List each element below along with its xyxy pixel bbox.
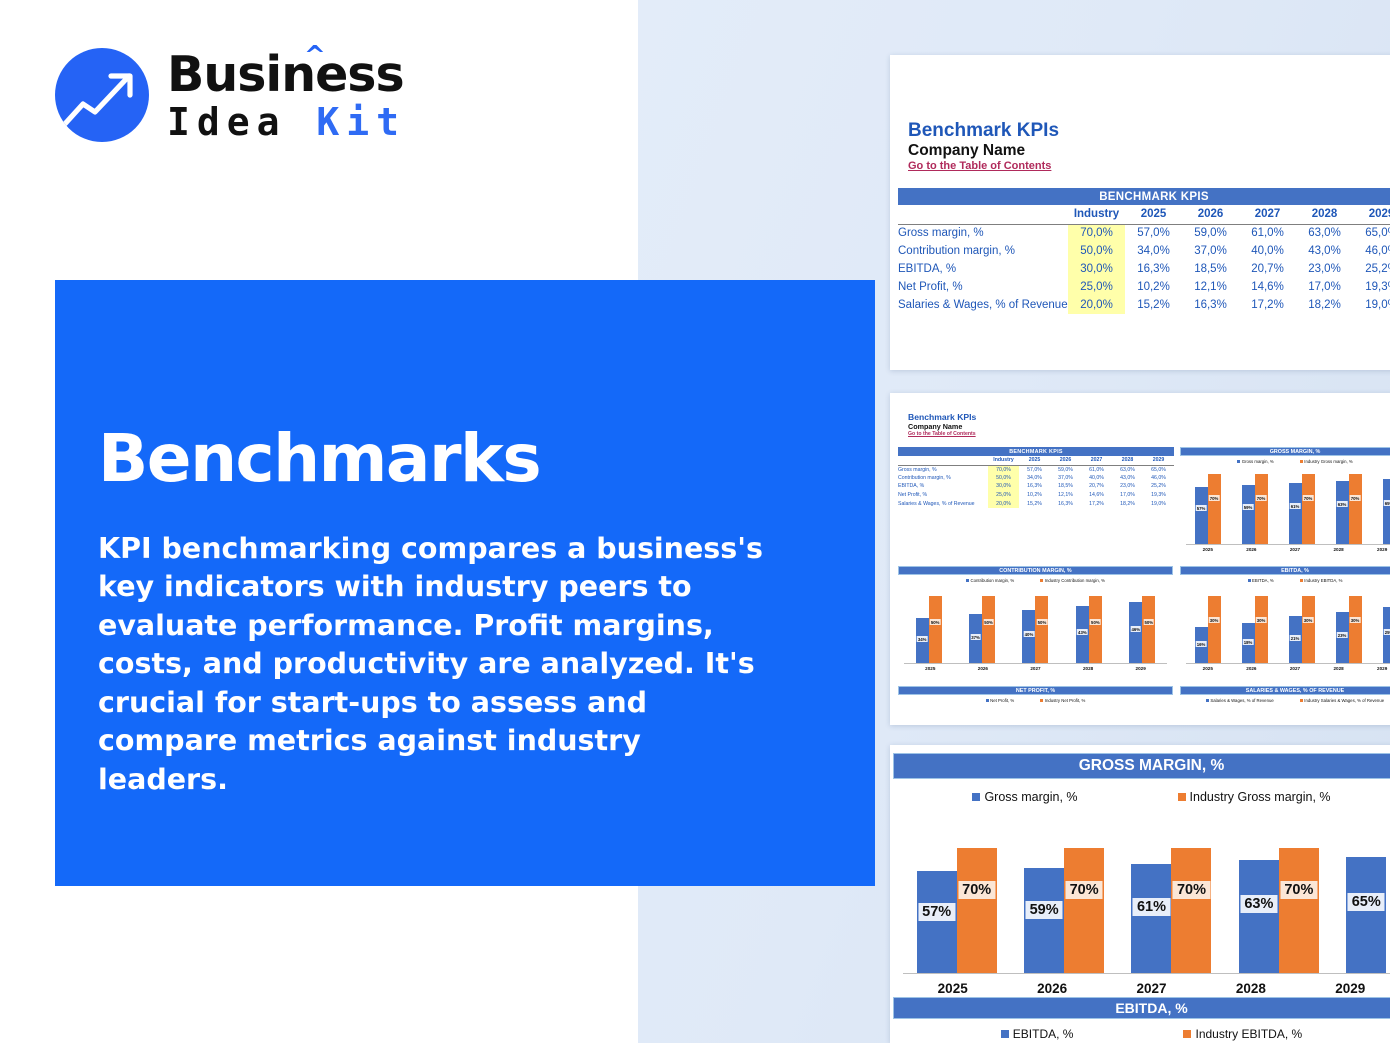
bar-data-label: 57% — [918, 903, 955, 921]
table-body-mini: BENCHMARK KPISIndustry202520262027202820… — [898, 447, 1174, 508]
table-row[interactable]: Gross margin, %70,0%57,0%59,0%61,0%63,0%… — [898, 465, 1174, 474]
bar-group: 65% — [1383, 464, 1390, 544]
chart-ebitda-large[interactable]: EBITDA, %EBITDA, %Industry EBITDA, % — [893, 997, 1390, 1041]
chart-plot-area: 16%30%18%30%21%30%23%30%25% — [1180, 583, 1390, 663]
bar-data-label: 61% — [1290, 503, 1301, 509]
table-row[interactable]: Contribution margin, %50,0%34,0%37,0%40,… — [898, 474, 1174, 483]
bar-data-label: 30% — [1303, 617, 1314, 623]
bar-data-label: 16% — [1196, 641, 1207, 647]
value-cell[interactable]: 20,7% — [1081, 482, 1112, 491]
industry-cell[interactable]: 25,0% — [988, 491, 1019, 500]
column-header: 2028 — [1112, 456, 1143, 465]
chart-title: GROSS MARGIN, % — [1180, 447, 1390, 456]
header-blank — [898, 456, 988, 465]
row-label: Contribution margin, % — [898, 474, 988, 483]
column-header: Industry — [988, 456, 1019, 465]
value-cell[interactable]: 57,0% — [1125, 224, 1182, 242]
legend-swatch-orange — [1183, 1030, 1191, 1038]
legend-label-company: Gross margin, % — [984, 790, 1077, 804]
sheet-header-top: Benchmark KPIs Company Name Go to the Ta… — [898, 120, 1059, 172]
bar-data-label: 30% — [1209, 617, 1220, 623]
chart-gross-margin-large[interactable]: GROSS MARGIN, %Gross margin, %Industry G… — [893, 753, 1390, 996]
x-axis-tick: 2028 — [1083, 666, 1093, 671]
value-cell[interactable]: 17,2% — [1081, 499, 1112, 508]
table-row[interactable]: EBITDA, %30,0%16,3%18,5%20,7%23,0%25,2% — [898, 482, 1174, 491]
bar-data-label: 59% — [1243, 504, 1254, 510]
x-axis-tick: 2026 — [1246, 666, 1256, 671]
growth-arrow-icon — [55, 48, 149, 142]
column-header: 2029 — [1353, 205, 1390, 224]
bar-data-label: 65% — [1348, 893, 1385, 911]
chart-title: SALARIES & WAGES, % OF REVENUE — [1180, 686, 1390, 695]
bar[interactable]: 50% — [1089, 596, 1102, 663]
legend-label-industry: Industry Net Profit, % — [1045, 698, 1086, 703]
bar[interactable]: 70% — [1302, 474, 1315, 544]
bar-group: 23%30% — [1336, 583, 1362, 663]
bar-group: 40%50% — [1022, 583, 1048, 663]
bar-data-label: 59% — [1026, 901, 1063, 919]
bar-data-label: 30% — [1350, 617, 1361, 623]
table-row[interactable]: Salaries & Wages, % of Revenue20,0%15,2%… — [898, 499, 1174, 508]
bar-data-label: 43% — [1077, 629, 1088, 635]
value-cell[interactable]: 46,0% — [1143, 474, 1174, 483]
legend-item-industry: Industry Salaries & Wages, % of Revenue — [1300, 698, 1384, 703]
value-cell[interactable]: 17,0% — [1296, 278, 1353, 296]
bar-group: 57%70% — [1195, 464, 1221, 544]
bar-group: 59%70% — [1242, 464, 1268, 544]
legend-item-company: EBITDA, % — [1001, 1027, 1074, 1041]
chart-legend: EBITDA, %Industry EBITDA, % — [893, 1027, 1390, 1041]
legend-label-company: Salaries & Wages, % of Revenue — [1210, 698, 1273, 703]
x-axis-tick: 2026 — [978, 666, 988, 671]
bar-group: 65% — [1346, 830, 1386, 973]
chart-title: GROSS MARGIN, % — [893, 753, 1390, 779]
legend-swatch-orange — [1040, 579, 1043, 582]
bar[interactable]: 50% — [1142, 596, 1155, 663]
value-cell[interactable]: 23,0% — [1112, 482, 1143, 491]
bar[interactable]: 70% — [1171, 848, 1211, 973]
legend-swatch-blue — [1248, 579, 1251, 582]
x-axis-tick: 2028 — [1333, 547, 1343, 552]
bar-data-label: 50% — [1090, 619, 1101, 625]
bar[interactable]: 70% — [1255, 474, 1268, 544]
bar-data-label: 25% — [1384, 629, 1390, 635]
bar[interactable]: 65% — [1346, 857, 1386, 973]
value-cell[interactable]: 19,3% — [1353, 278, 1390, 296]
chart-plot-area: 57%70%59%70%61%70%63%70%65% — [893, 830, 1390, 973]
industry-cell[interactable]: 20,0% — [1068, 296, 1125, 314]
legend-label-company: EBITDA, % — [1013, 1027, 1074, 1041]
column-header: 2026 — [1182, 205, 1239, 224]
bar[interactable]: 16% — [1195, 627, 1208, 663]
value-cell[interactable]: 40,0% — [1081, 474, 1112, 483]
column-header: 2025 — [1125, 205, 1182, 224]
industry-cell[interactable]: 50,0% — [988, 474, 1019, 483]
value-cell[interactable]: 61,0% — [1239, 224, 1296, 242]
bar[interactable]: 70% — [1349, 474, 1362, 544]
value-cell[interactable]: 65,0% — [1143, 465, 1174, 474]
row-label: Gross margin, % — [898, 465, 988, 474]
bar[interactable]: 46% — [1129, 602, 1142, 663]
row-label: EBITDA, % — [898, 260, 1068, 278]
table-row[interactable]: EBITDA, %30,0%16,3%18,5%20,7%23,0%25,2% — [898, 260, 1390, 278]
bar-group: 63%70% — [1336, 464, 1362, 544]
x-axis-tick: 2026 — [1246, 547, 1256, 552]
sheet-title: Benchmark KPIs — [908, 120, 1059, 142]
x-axis-tick: 2027 — [1030, 666, 1040, 671]
value-cell[interactable]: 16,3% — [1125, 260, 1182, 278]
column-header: 2028 — [1296, 205, 1353, 224]
value-cell[interactable]: 34,0% — [1019, 474, 1050, 483]
value-cell[interactable]: 25,2% — [1353, 260, 1390, 278]
legend-item-company: Net Profit, % — [986, 698, 1015, 703]
value-cell[interactable]: 12,1% — [1050, 491, 1081, 500]
brand-caret-icon: ^ — [304, 43, 325, 69]
legend-label-industry: Industry Gross margin, % — [1190, 790, 1331, 804]
x-axis-tick: 2025 — [925, 666, 935, 671]
sheet-company-mini: Company Name — [908, 422, 976, 431]
bar[interactable]: 61% — [1131, 864, 1171, 973]
brand-line-2-dark: Idea — [167, 100, 316, 144]
bar-group: 61%70% — [1289, 464, 1315, 544]
sheet-header-middle: Benchmark KPIs Company Name Go to the Ta… — [898, 412, 976, 437]
value-cell[interactable]: 37,0% — [1182, 242, 1239, 260]
bar-group: 63%70% — [1239, 830, 1319, 973]
value-cell[interactable]: 16,3% — [1182, 296, 1239, 314]
x-axis-ticks: 20252026202720282029 — [893, 974, 1390, 996]
bar-data-label: 63% — [1337, 501, 1348, 507]
x-axis-tick: 2027 — [1136, 981, 1166, 996]
chart-legend: Gross margin, %Industry Gross margin, % — [893, 790, 1390, 804]
bar-data-label: 63% — [1240, 895, 1277, 913]
page-title: Benchmarks — [98, 420, 540, 497]
bar[interactable]: 23% — [1336, 612, 1349, 663]
table-row[interactable]: Salaries & Wages, % of Revenue20,0%15,2%… — [898, 296, 1390, 314]
legend-swatch-orange — [1300, 579, 1303, 582]
legend-swatch-blue — [966, 579, 969, 582]
chart-plot-area: 34%50%37%50%40%50%43%50%46%50% — [898, 583, 1173, 663]
value-cell[interactable]: 19,0% — [1353, 296, 1390, 314]
bar-data-label: 70% — [1066, 881, 1103, 899]
value-cell[interactable]: 12,1% — [1182, 278, 1239, 296]
bar-data-label: 37% — [970, 634, 981, 640]
bar[interactable]: 57% — [1195, 487, 1208, 544]
legend-swatch-blue — [1237, 460, 1240, 463]
table-banner-row: BENCHMARK KPIS — [898, 447, 1174, 456]
value-cell[interactable]: 43,0% — [1112, 474, 1143, 483]
bar-group: 46%50% — [1129, 583, 1155, 663]
x-axis-tick: 2025 — [1203, 547, 1213, 552]
bar[interactable]: 30% — [1349, 596, 1362, 663]
value-cell[interactable]: 14,6% — [1239, 278, 1296, 296]
legend-item-industry: Industry Gross margin, % — [1178, 790, 1331, 804]
legend-swatch-orange — [1178, 793, 1186, 801]
bar-data-label: 50% — [1143, 619, 1154, 625]
legend-swatch-blue — [1206, 699, 1209, 702]
bar[interactable]: 63% — [1239, 860, 1279, 973]
toc-link[interactable]: Go to the Table of Contents — [908, 160, 1059, 172]
value-cell[interactable]: 46,0% — [1353, 242, 1390, 260]
benchmark-kpi-table-mini[interactable]: BENCHMARK KPISIndustry202520262027202820… — [898, 447, 1174, 508]
industry-cell[interactable]: 70,0% — [988, 465, 1019, 474]
bar-data-label: 70% — [1280, 881, 1317, 899]
value-cell[interactable]: 17,0% — [1112, 491, 1143, 500]
chart-net-profit-mini[interactable]: NET PROFIT, %Net Profit, %Industry Net P… — [898, 686, 1173, 703]
chart-title: NET PROFIT, % — [898, 686, 1173, 695]
header-blank — [898, 205, 1068, 224]
bar[interactable]: 70% — [957, 848, 997, 973]
column-header: Industry — [1068, 205, 1125, 224]
legend-swatch-blue — [972, 793, 980, 801]
bar-data-label: 23% — [1337, 632, 1348, 638]
bar[interactable]: 70% — [1208, 474, 1221, 544]
column-header: 2027 — [1239, 205, 1296, 224]
bar[interactable]: 70% — [1279, 848, 1319, 973]
table-row[interactable]: Contribution margin, %50,0%34,0%37,0%40,… — [898, 242, 1390, 260]
x-axis-tick: 2029 — [1335, 981, 1365, 996]
row-label: EBITDA, % — [898, 482, 988, 491]
row-label: Salaries & Wages, % of Revenue — [898, 499, 988, 508]
bar-data-label: 70% — [1256, 495, 1267, 501]
brand-line-1-text: Business — [167, 46, 404, 103]
legend-item-industry: Industry EBITDA, % — [1183, 1027, 1302, 1041]
chart-title: EBITDA, % — [1180, 566, 1390, 575]
value-cell[interactable]: 16,3% — [1050, 499, 1081, 508]
toc-link-mini[interactable]: Go to the Table of Contents — [908, 431, 976, 437]
bar[interactable]: 30% — [1208, 596, 1221, 663]
bar-group: 34%50% — [916, 583, 942, 663]
row-label: Salaries & Wages, % of Revenue — [898, 296, 1068, 314]
legend-item-company: Salaries & Wages, % of Revenue — [1206, 698, 1274, 703]
x-axis-tick: 2025 — [938, 981, 968, 996]
value-cell[interactable]: 63,0% — [1296, 224, 1353, 242]
bar-data-label: 70% — [1209, 495, 1220, 501]
value-cell[interactable]: 19,3% — [1143, 491, 1174, 500]
bar-group: 59%70% — [1024, 830, 1104, 973]
value-cell[interactable]: 63,0% — [1112, 465, 1143, 474]
bar[interactable]: 30% — [1255, 596, 1268, 663]
x-axis-tick: 2026 — [1037, 981, 1067, 996]
bar[interactable]: 40% — [1022, 610, 1035, 663]
value-cell[interactable]: 14,6% — [1081, 491, 1112, 500]
chart-gross-margin-mini[interactable]: GROSS MARGIN, %Gross margin, %Industry G… — [1180, 447, 1390, 552]
chart-title: EBITDA, % — [893, 997, 1390, 1019]
bar[interactable]: 70% — [1064, 848, 1104, 973]
x-axis-ticks: 20252026202720282029 — [898, 664, 1173, 671]
column-header: 2027 — [1081, 456, 1112, 465]
x-axis-tick: 2027 — [1290, 547, 1300, 552]
bar[interactable]: 37% — [969, 614, 982, 663]
x-axis-tick: 2028 — [1236, 981, 1266, 996]
bar-data-label: 70% — [1173, 881, 1210, 899]
value-cell[interactable]: 61,0% — [1081, 465, 1112, 474]
column-header: 2026 — [1050, 456, 1081, 465]
bar[interactable]: 50% — [929, 596, 942, 663]
legend-label-industry: Industry EBITDA, % — [1195, 1027, 1302, 1041]
chart-plot-area: 57%70%59%70%61%70%63%70%65% — [1180, 464, 1390, 544]
value-cell[interactable]: 17,2% — [1239, 296, 1296, 314]
x-axis-ticks: 20252026202720282029 — [1180, 545, 1390, 552]
chart-legend: Salaries & Wages, % of RevenueIndustry S… — [1180, 698, 1390, 703]
bar-group: 21%30% — [1289, 583, 1315, 663]
table-row[interactable]: Gross margin, %70,0%57,0%59,0%61,0%63,0%… — [898, 224, 1390, 242]
value-cell[interactable]: 37,0% — [1050, 474, 1081, 483]
bar-data-label: 50% — [930, 619, 941, 625]
bar-data-label: 18% — [1243, 639, 1254, 645]
bar-data-label: 50% — [1037, 619, 1048, 625]
table-header-row: Industry20252026202720282029 — [898, 456, 1174, 465]
brand-line-1: Business ^ — [167, 50, 406, 99]
value-cell[interactable]: 18,2% — [1112, 499, 1143, 508]
value-cell[interactable]: 20,7% — [1239, 260, 1296, 278]
bar-group: 16%30% — [1195, 583, 1221, 663]
legend-item-company: Gross margin, % — [972, 790, 1077, 804]
bar[interactable]: 18% — [1242, 623, 1255, 663]
bar-data-label: 46% — [1130, 626, 1141, 632]
legend-swatch-orange — [1040, 699, 1043, 702]
bar-data-label: 61% — [1133, 898, 1170, 916]
value-cell[interactable]: 10,2% — [1125, 278, 1182, 296]
x-axis-tick: 2028 — [1333, 666, 1343, 671]
bar[interactable]: 59% — [1024, 868, 1064, 973]
x-axis-tick: 2029 — [1377, 547, 1387, 552]
value-cell[interactable]: 59,0% — [1182, 224, 1239, 242]
industry-cell[interactable]: 50,0% — [1068, 242, 1125, 260]
hero-panel: Benchmarks KPI benchmarking compares a b… — [55, 280, 875, 886]
brand-line-2-accent: Kit — [316, 100, 406, 144]
bar[interactable]: 25% — [1383, 607, 1390, 663]
row-label: Contribution margin, % — [898, 242, 1068, 260]
industry-cell[interactable]: 70,0% — [1068, 224, 1125, 242]
table-row[interactable]: Net Profit, %25,0%10,2%12,1%14,6%17,0%19… — [898, 278, 1390, 296]
bar[interactable]: 63% — [1336, 481, 1349, 544]
table-banner-cell: BENCHMARK KPIS — [898, 447, 1174, 456]
x-axis-tick: 2025 — [1203, 666, 1213, 671]
bar-data-label: 70% — [1350, 495, 1361, 501]
column-header: 2025 — [1019, 456, 1050, 465]
value-cell[interactable]: 25,2% — [1143, 482, 1174, 491]
bar-group: 37%50% — [969, 583, 995, 663]
bar-group: 18%30% — [1242, 583, 1268, 663]
x-axis-tick: 2029 — [1377, 666, 1387, 671]
bar-group: 25% — [1383, 583, 1390, 663]
sheet-company: Company Name — [908, 142, 1059, 160]
x-axis-tick: 2027 — [1290, 666, 1300, 671]
legend-swatch-orange — [1300, 460, 1303, 463]
row-label: Gross margin, % — [898, 224, 1068, 242]
legend-swatch-blue — [986, 699, 989, 702]
row-label: Net Profit, % — [898, 491, 988, 500]
bar[interactable]: 50% — [1035, 596, 1048, 663]
chart-title: CONTRIBUTION MARGIN, % — [898, 566, 1173, 575]
bar[interactable]: 61% — [1289, 483, 1302, 544]
bar[interactable]: 34% — [916, 618, 929, 663]
value-cell[interactable]: 15,2% — [1125, 296, 1182, 314]
value-cell[interactable]: 19,0% — [1143, 499, 1174, 508]
value-cell[interactable]: 18,2% — [1296, 296, 1353, 314]
value-cell[interactable]: 59,0% — [1050, 465, 1081, 474]
bar[interactable]: 57% — [917, 871, 957, 973]
column-header: 2029 — [1143, 456, 1174, 465]
chart-contribution-margin-mini[interactable]: CONTRIBUTION MARGIN, %Contribution margi… — [898, 566, 1173, 671]
legend-label-company: Net Profit, % — [990, 698, 1014, 703]
bar[interactable]: 50% — [982, 596, 995, 663]
chart-ebitda-mini[interactable]: EBITDA, %EBITDA, %Industry EBITDA, %16%3… — [1180, 566, 1390, 671]
industry-cell[interactable]: 25,0% — [1068, 278, 1125, 296]
value-cell[interactable]: 15,2% — [1019, 499, 1050, 508]
value-cell[interactable]: 40,0% — [1239, 242, 1296, 260]
bar-group: 43%50% — [1076, 583, 1102, 663]
x-axis-ticks: 20252026202720282029 — [1180, 664, 1390, 671]
bar-data-label: 70% — [1303, 495, 1314, 501]
bar-data-label: 50% — [983, 619, 994, 625]
value-cell[interactable]: 43,0% — [1296, 242, 1353, 260]
table-row[interactable]: Net Profit, %25,0%10,2%12,1%14,6%17,0%19… — [898, 491, 1174, 500]
value-cell[interactable]: 57,0% — [1019, 465, 1050, 474]
brand-line-2: Idea Kit — [167, 103, 406, 141]
bar-data-label: 21% — [1290, 635, 1301, 641]
bar[interactable]: 43% — [1076, 606, 1089, 663]
brand-logo: Business ^ Idea Kit — [55, 48, 406, 142]
spreadsheet-card-middle[interactable] — [890, 393, 1390, 725]
industry-cell[interactable]: 30,0% — [1068, 260, 1125, 278]
bar-data-label: 40% — [1024, 631, 1035, 637]
table-banner-row: BENCHMARK KPIS — [898, 188, 1390, 205]
value-cell[interactable]: 18,5% — [1050, 482, 1081, 491]
value-cell[interactable]: 10,2% — [1019, 491, 1050, 500]
bar[interactable]: 65% — [1383, 479, 1390, 544]
bar[interactable]: 30% — [1302, 596, 1315, 663]
bar-data-label: 34% — [917, 636, 928, 642]
bar[interactable]: 59% — [1242, 485, 1255, 544]
value-cell[interactable]: 65,0% — [1353, 224, 1390, 242]
table-banner-cell: BENCHMARK KPIS — [898, 188, 1390, 205]
legend-label-industry: Industry Salaries & Wages, % of Revenue — [1304, 698, 1384, 703]
chart-salaries-wages-mini[interactable]: SALARIES & WAGES, % OF REVENUESalaries &… — [1180, 686, 1390, 703]
sheet-title-mini: Benchmark KPIs — [908, 412, 976, 422]
table-header-row: Industry20252026202720282029 — [898, 205, 1390, 224]
x-axis-tick: 2029 — [1136, 666, 1146, 671]
industry-cell[interactable]: 30,0% — [988, 482, 1019, 491]
value-cell[interactable]: 16,3% — [1019, 482, 1050, 491]
bar-group: 57%70% — [917, 830, 997, 973]
bar[interactable]: 21% — [1289, 616, 1302, 663]
legend-item-industry: Industry Net Profit, % — [1040, 698, 1085, 703]
row-label: Net Profit, % — [898, 278, 1068, 296]
chart-legend: Net Profit, %Industry Net Profit, % — [898, 698, 1173, 703]
bar-data-label: 70% — [958, 881, 995, 899]
bar-data-label: 30% — [1256, 617, 1267, 623]
hero-paragraph: KPI benchmarking compares a business's k… — [98, 530, 770, 799]
table-body-big: BENCHMARK KPISIndustry202520262027202820… — [898, 188, 1390, 314]
legend-swatch-orange — [1300, 699, 1303, 702]
legend-swatch-blue — [1001, 1030, 1009, 1038]
bar-data-label: 65% — [1384, 500, 1390, 506]
value-cell[interactable]: 34,0% — [1125, 242, 1182, 260]
benchmark-kpi-table[interactable]: BENCHMARK KPISIndustry202520262027202820… — [898, 188, 1390, 314]
bar-group: 61%70% — [1131, 830, 1211, 973]
value-cell[interactable]: 23,0% — [1296, 260, 1353, 278]
value-cell[interactable]: 18,5% — [1182, 260, 1239, 278]
bar-data-label: 57% — [1196, 505, 1207, 511]
industry-cell[interactable]: 20,0% — [988, 499, 1019, 508]
